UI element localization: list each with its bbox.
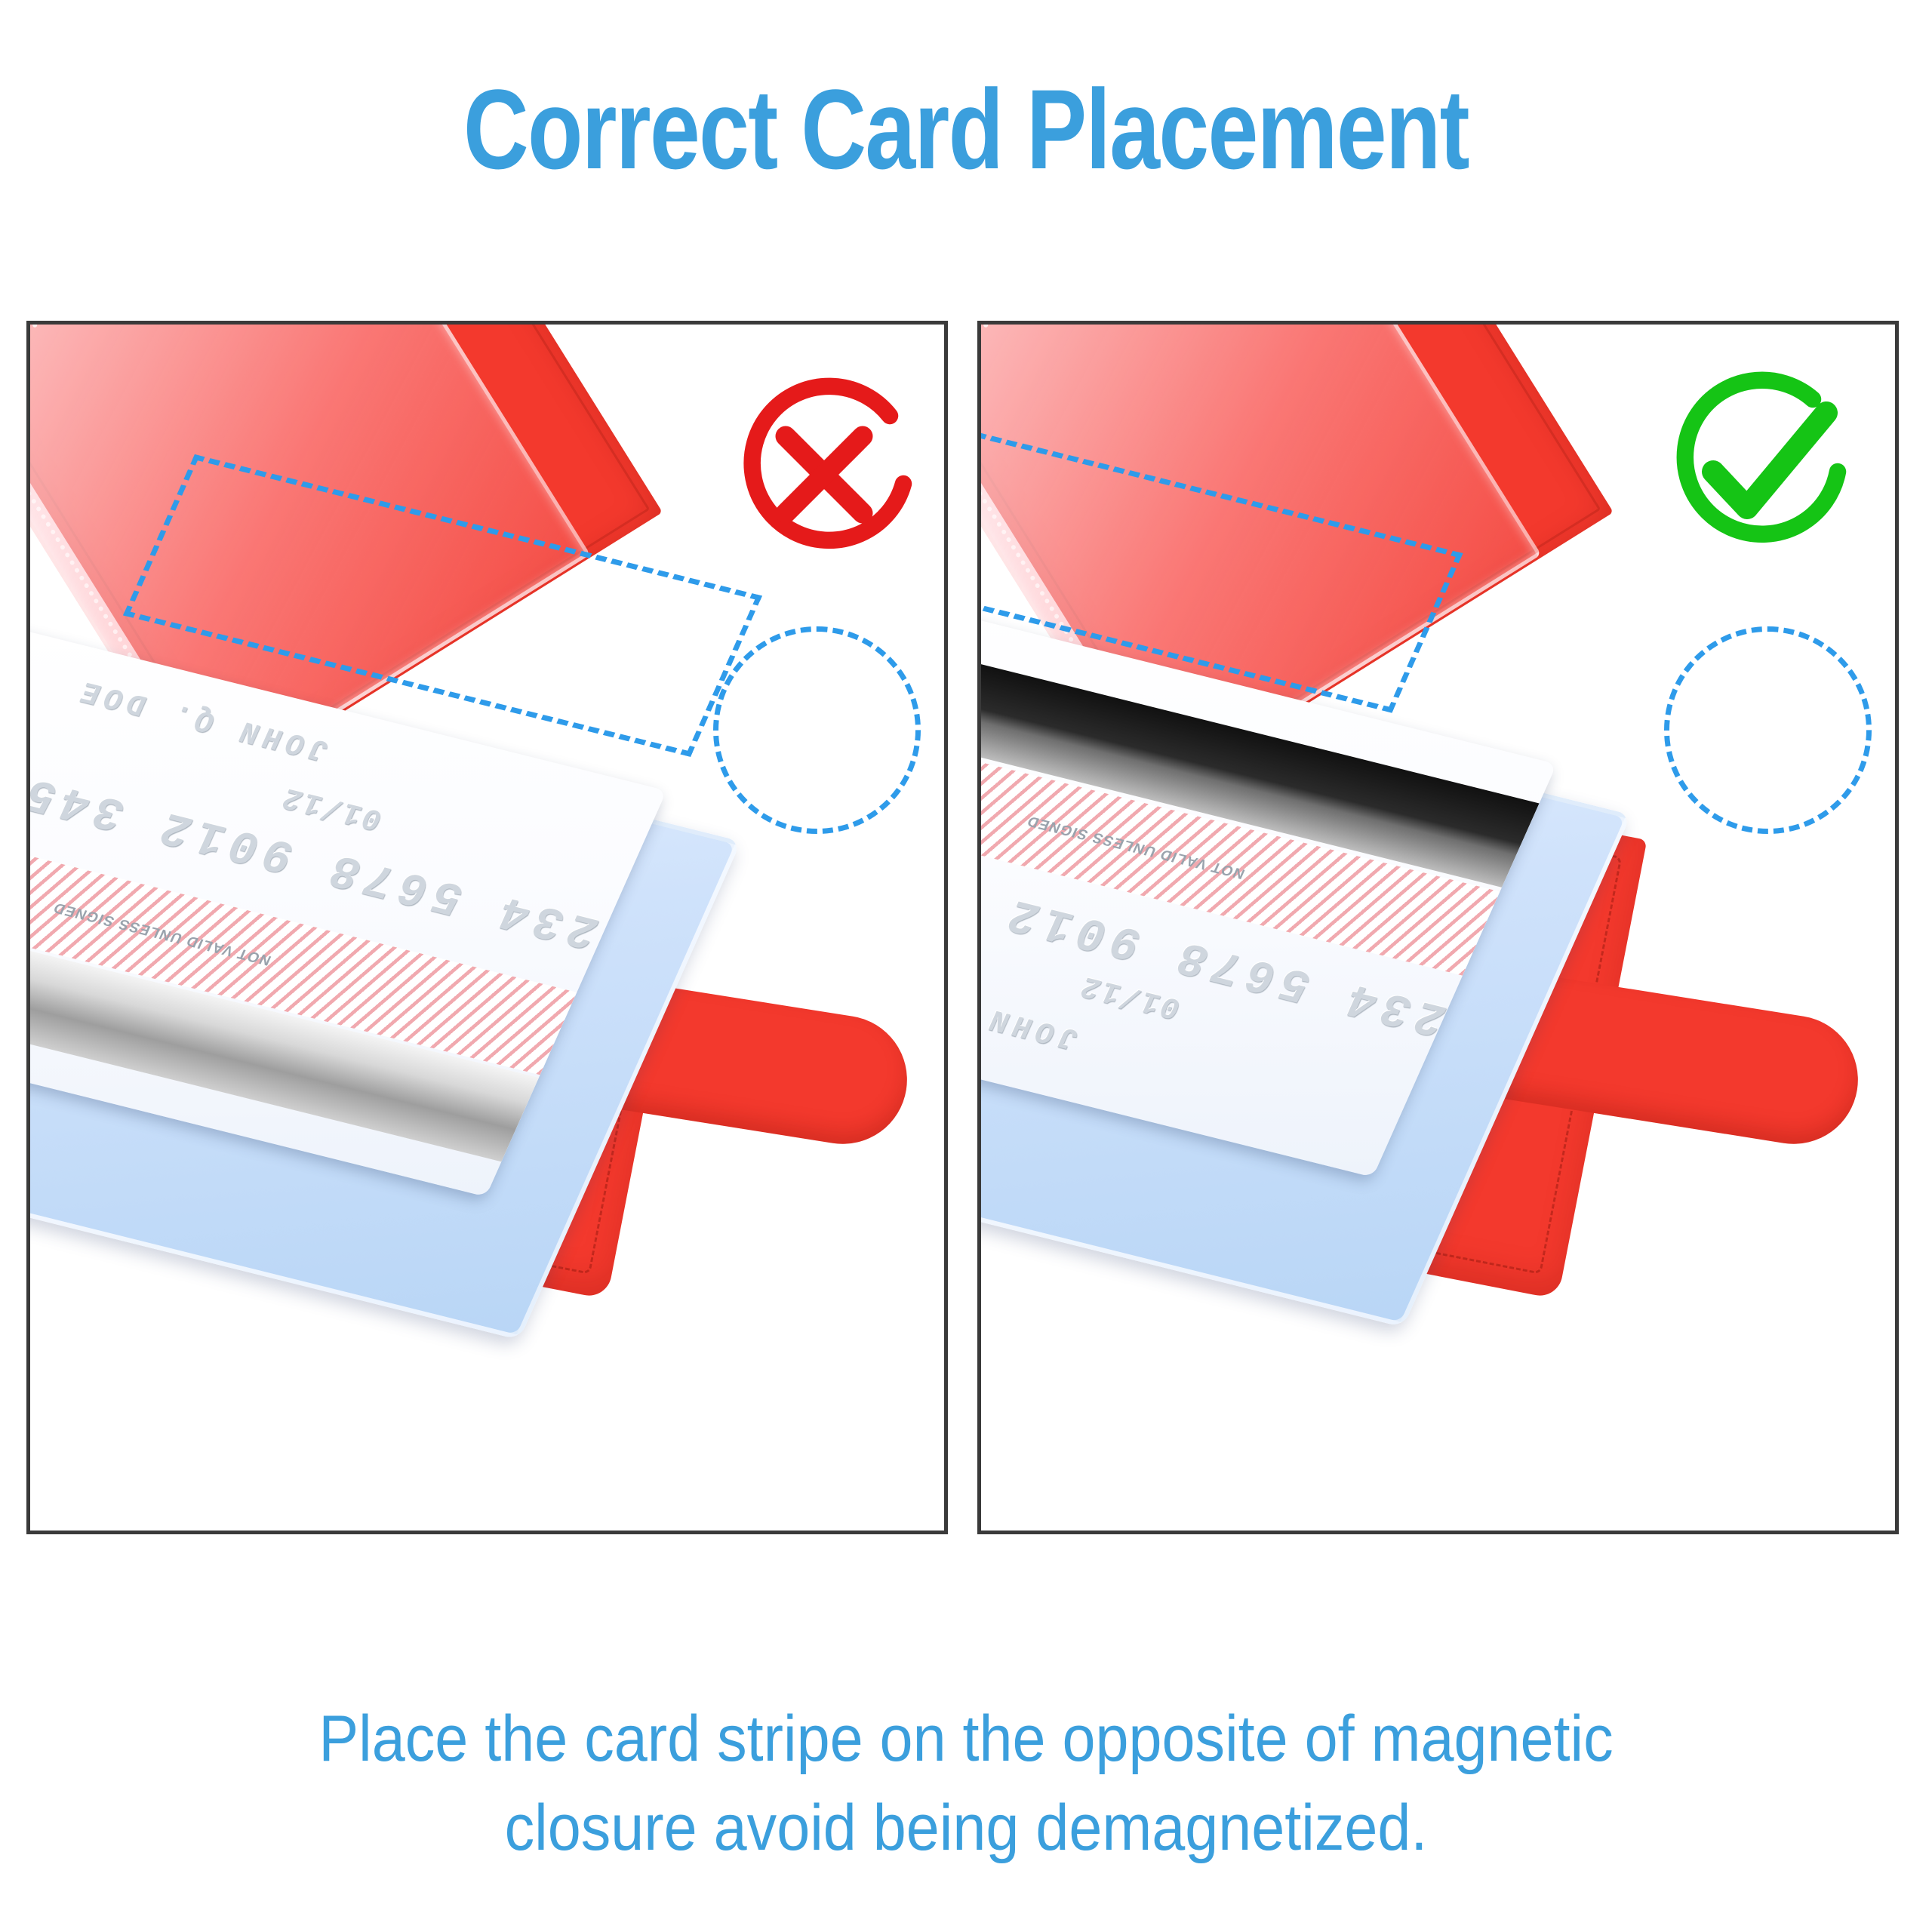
wallet-illustration-wrong: JOHN Q. DOE 01/12 1234 5678 9012 3456 NO… [30,325,944,1531]
card-holder-name: JOHN Q. DOE [977,961,1084,1054]
magnetic-closure-highlight [713,626,921,834]
panel-wrong-placement: JOHN Q. DOE 01/12 1234 5678 9012 3456 NO… [26,321,948,1534]
caption-line-2: closure avoid being demagnetized. [119,1783,1814,1872]
caption-line-1: Place the card stripe on the opposite of… [119,1694,1814,1783]
circle-check-icon [1645,358,1872,585]
card-expiry: 01/12 [275,779,389,835]
panel-correct-placement: NOT VALID UNLESS SIGNED 1234 5678 9012 3… [977,321,1899,1534]
magnetic-closure-highlight [1664,626,1872,834]
caption: Place the card stripe on the opposite of… [119,1694,1814,1872]
page-title: Correct Card Placement [193,72,1739,186]
circle-x-icon [713,366,940,592]
wallet-illustration-correct: NOT VALID UNLESS SIGNED 1234 5678 9012 3… [981,325,1895,1531]
